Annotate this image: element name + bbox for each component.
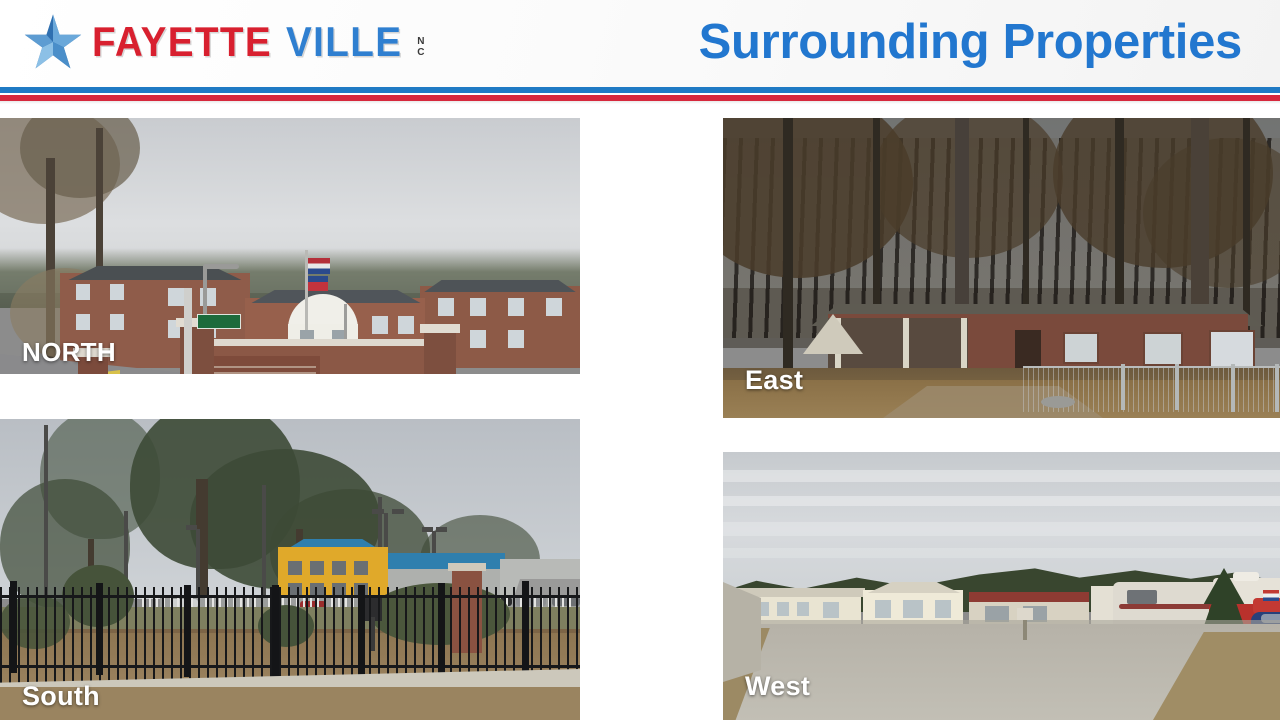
photo-caption-north: NORTH (22, 337, 116, 368)
photo-south: South (0, 419, 580, 720)
page-title: Surrounding Properties (699, 14, 1242, 70)
logo-word-fayette: FAYETTE (92, 22, 272, 62)
photo-caption-west: West (745, 671, 810, 702)
photo-caption-east: East (745, 365, 803, 396)
logo-wordmark: FAYETTE VILLE N C (92, 22, 424, 62)
logo-state-c: C (417, 47, 424, 59)
photo-caption-south: South (22, 681, 100, 712)
star-icon (22, 12, 84, 72)
street-sign (197, 314, 241, 329)
photo-north: NORTH (0, 118, 580, 374)
logo-word-ville: VILLE (286, 22, 402, 62)
american-flag-icon (1263, 590, 1279, 601)
slide-header: FAYETTE VILLE N C Surrounding Properties (0, 0, 1280, 87)
header-shadow (0, 101, 1280, 104)
logo-state-abbrev: N C (417, 36, 424, 59)
city-logo: FAYETTE VILLE N C (22, 12, 424, 72)
photo-west: West (723, 452, 1280, 720)
logo-state-n: N (417, 36, 424, 48)
photo-east: East (723, 118, 1280, 418)
